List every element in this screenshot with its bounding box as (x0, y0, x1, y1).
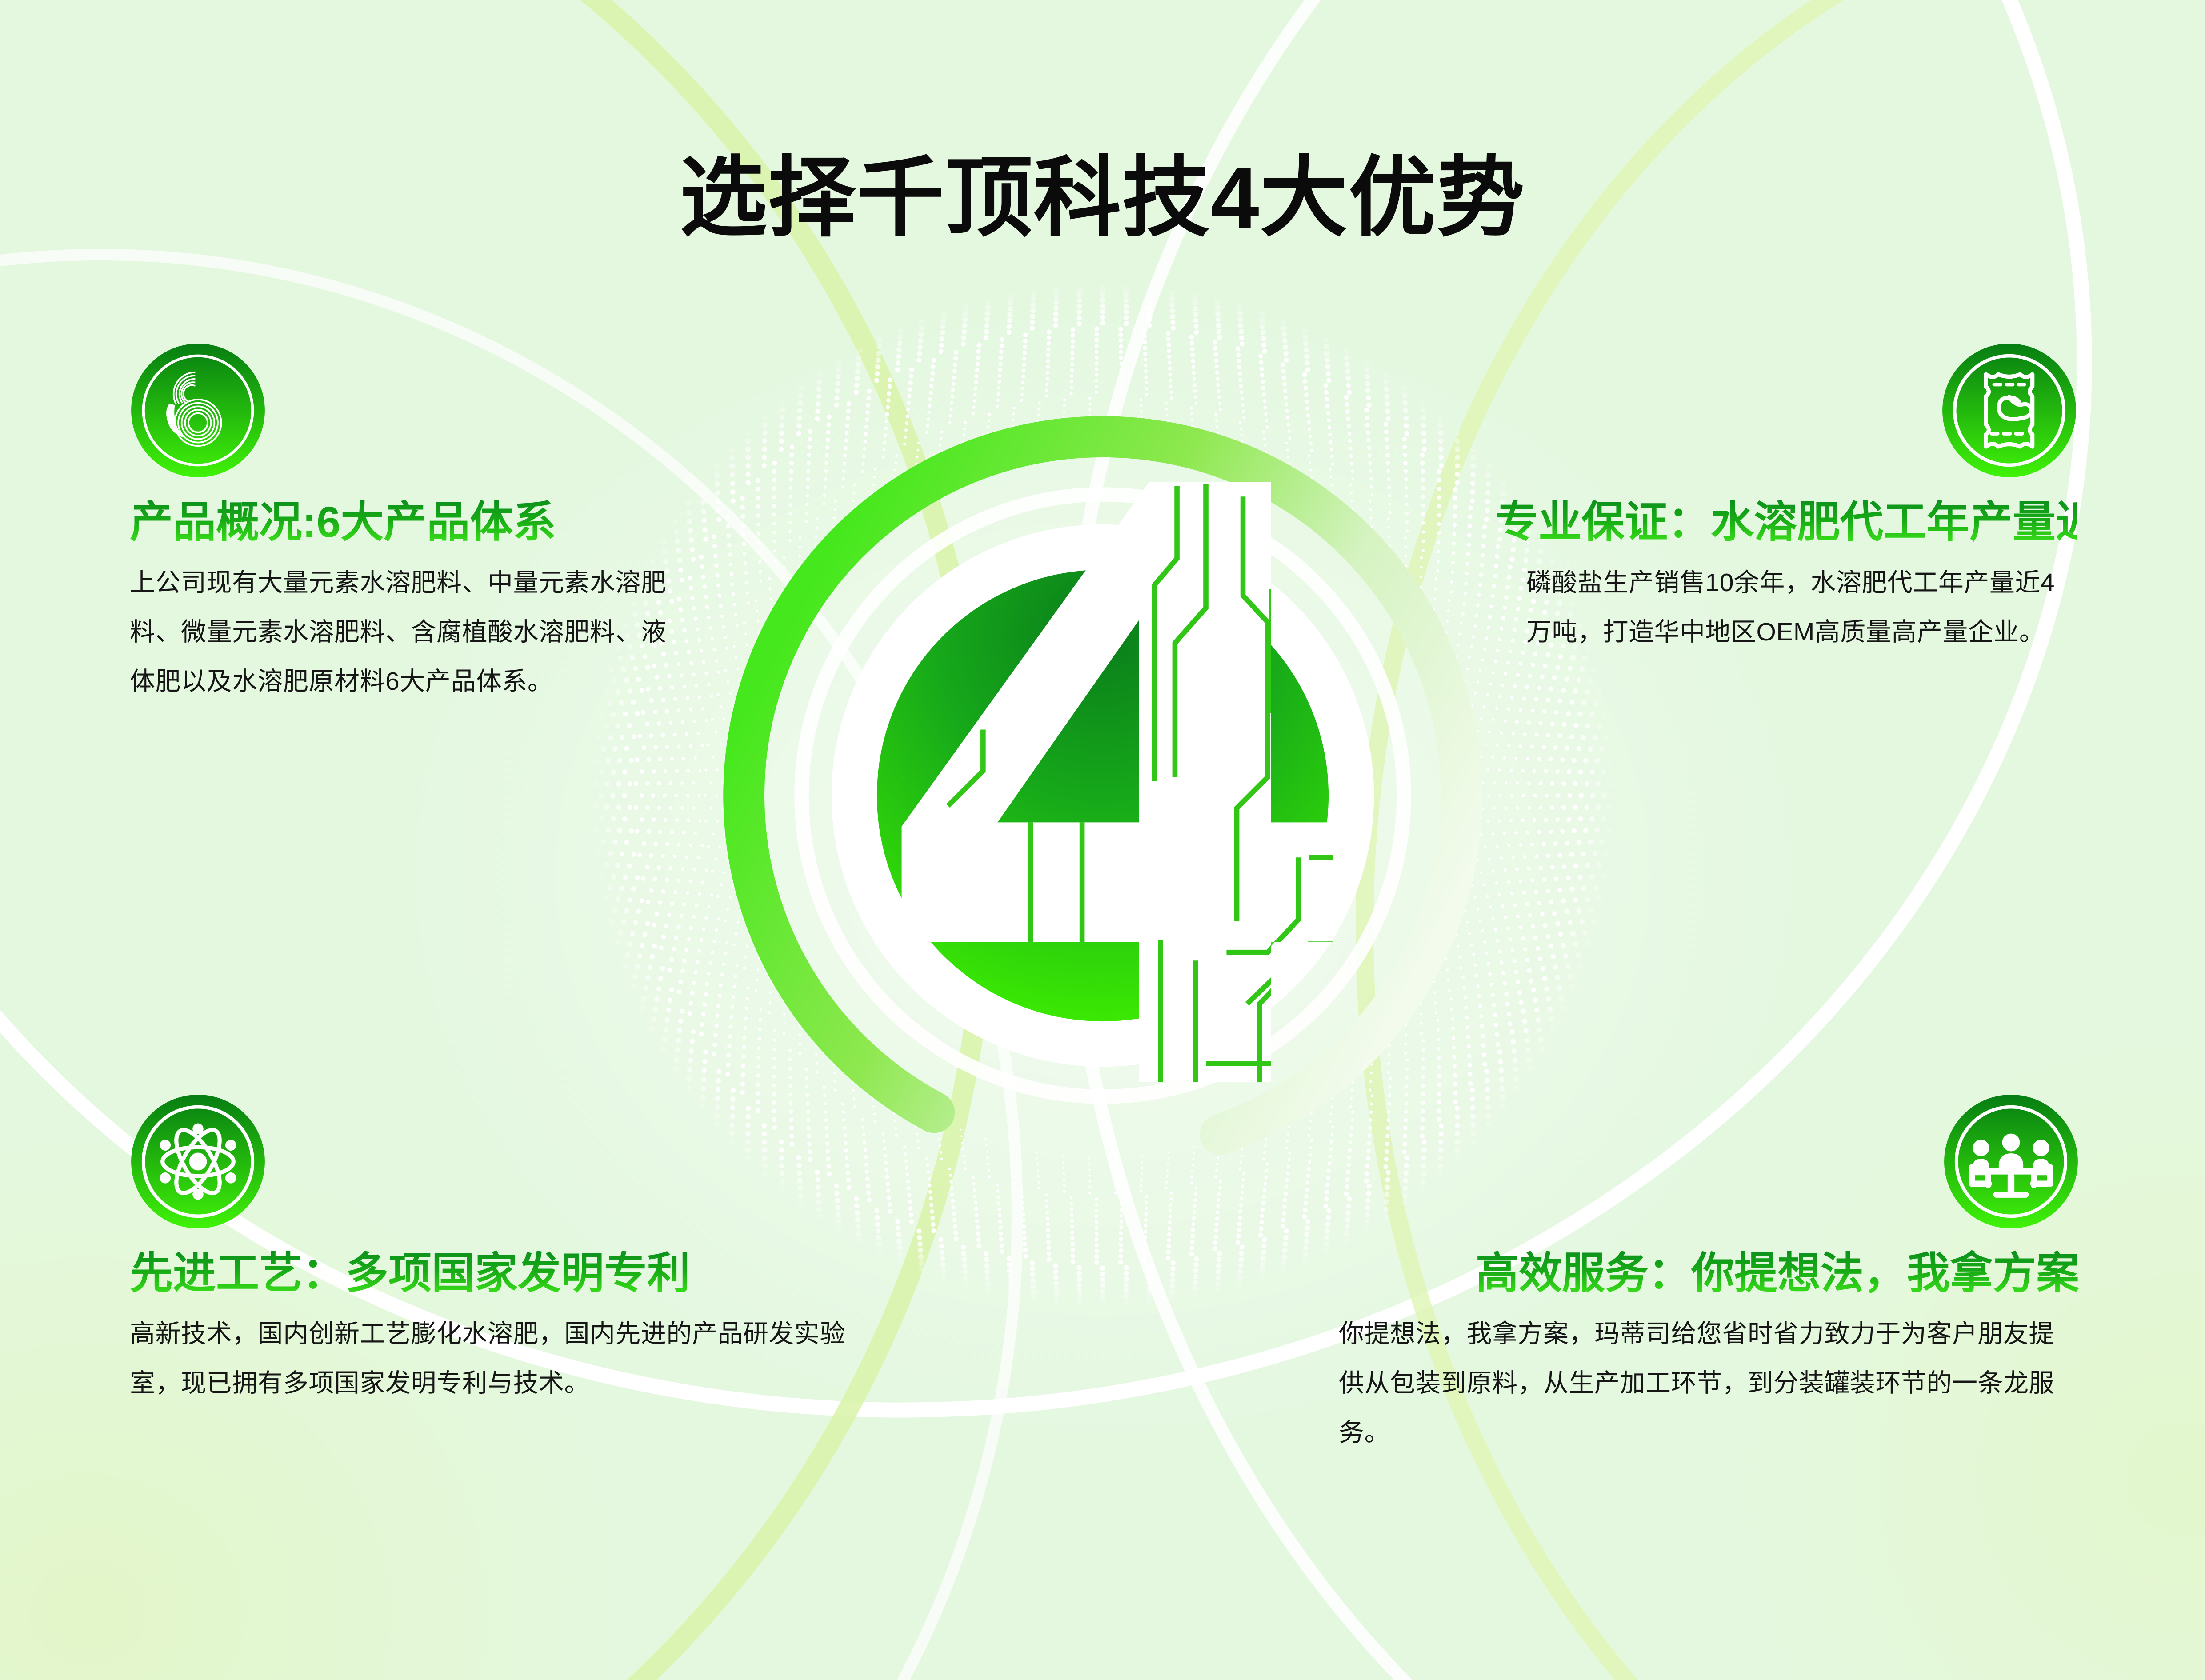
feature-body: 上公司现有大量元素水溶肥料、中量元素水溶肥料、微量元素水溶肥料、含腐植酸水溶肥料… (130, 558, 677, 706)
feature-heading: 专业保证：水溶肥代工年产量近4万吨 (1495, 498, 2077, 547)
six-rings-icon (130, 342, 266, 479)
meeting-team-icon (1943, 1093, 2079, 1230)
feature-heading: 先进工艺：多项国家发明专利 (130, 1249, 876, 1298)
fertilizer-bag-icon (1941, 342, 2077, 479)
feature-efficient-service: 高效服务：你提想法，我拿方案 你提想法，我拿方案，玛蒂司给您省时省力致力于为客户… (1328, 1093, 2079, 1457)
infographic-canvas: 选择千顶科技4大优势 (0, 0, 2205, 1680)
feature-product-overview: 产品概况:6大产品体系 上公司现有大量元素水溶肥料、中量元素水溶肥料、微量元素水… (130, 342, 708, 706)
feature-body: 高新技术，国内创新工艺膨化水溶肥，国内先进的产品研发实验室，现已拥有多项国家发明… (130, 1309, 868, 1408)
feature-professional-guarantee: 专业保证：水溶肥代工年产量近4万吨 磷酸盐生产销售10余年，水溶肥代工年产量近4… (1495, 342, 2077, 657)
feature-heading: 高效服务：你提想法，我拿方案 (1328, 1249, 2079, 1298)
feature-heading: 产品概况:6大产品体系 (130, 498, 708, 547)
feature-body: 磷酸盐生产销售10余年，水溶肥代工年产量近4万吨，打造华中地区OEM高质量高产量… (1526, 558, 2077, 657)
page-title: 选择千顶科技4大优势 (0, 154, 2205, 242)
feature-body: 你提想法，我拿方案，玛蒂司给您省时省力致力于为客户朋友提供从包装到原料，从生产加… (1339, 1309, 2079, 1457)
feature-advanced-process: 先进工艺：多项国家发明专利 高新技术，国内创新工艺膨化水溶肥，国内先进的产品研发… (130, 1093, 876, 1408)
atom-icon (130, 1093, 266, 1230)
